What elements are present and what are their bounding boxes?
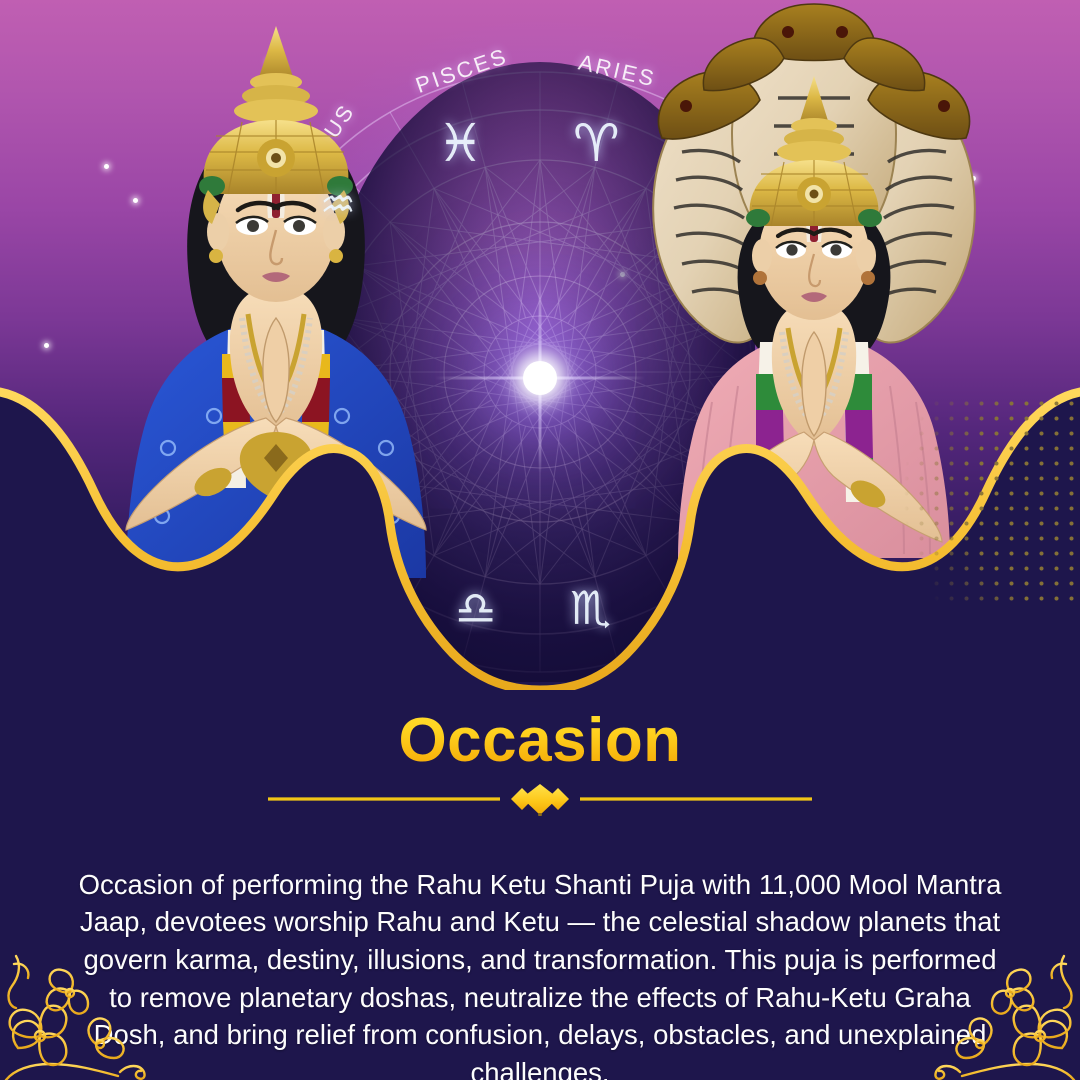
- scorpio-glyph: ♏: [570, 585, 611, 631]
- star-sparkle: [44, 343, 49, 348]
- body-paragraph: Occasion of performing the Rahu Ketu Sha…: [70, 866, 1010, 1080]
- floral-corner-ornament-bottom-left: [0, 952, 148, 1080]
- aries-glyph: ♈: [573, 118, 620, 170]
- poster-canvas: USPISCESARIES ♒♓♈♎♏ Occasion Occasion of…: [0, 0, 1080, 1080]
- pisces-glyph: ♓: [437, 118, 484, 170]
- aquarius-glyph: ♒: [320, 185, 356, 225]
- floral-corner-ornament-bottom-right: [932, 952, 1080, 1080]
- central-light-burst: [425, 263, 655, 493]
- page-title: Occasion: [0, 705, 1080, 776]
- halftone-dot-pattern: [884, 396, 1080, 611]
- diamond-divider: [0, 782, 1080, 816]
- libra-glyph: ♎: [455, 585, 496, 631]
- deity-ketu-left: [96, 18, 456, 578]
